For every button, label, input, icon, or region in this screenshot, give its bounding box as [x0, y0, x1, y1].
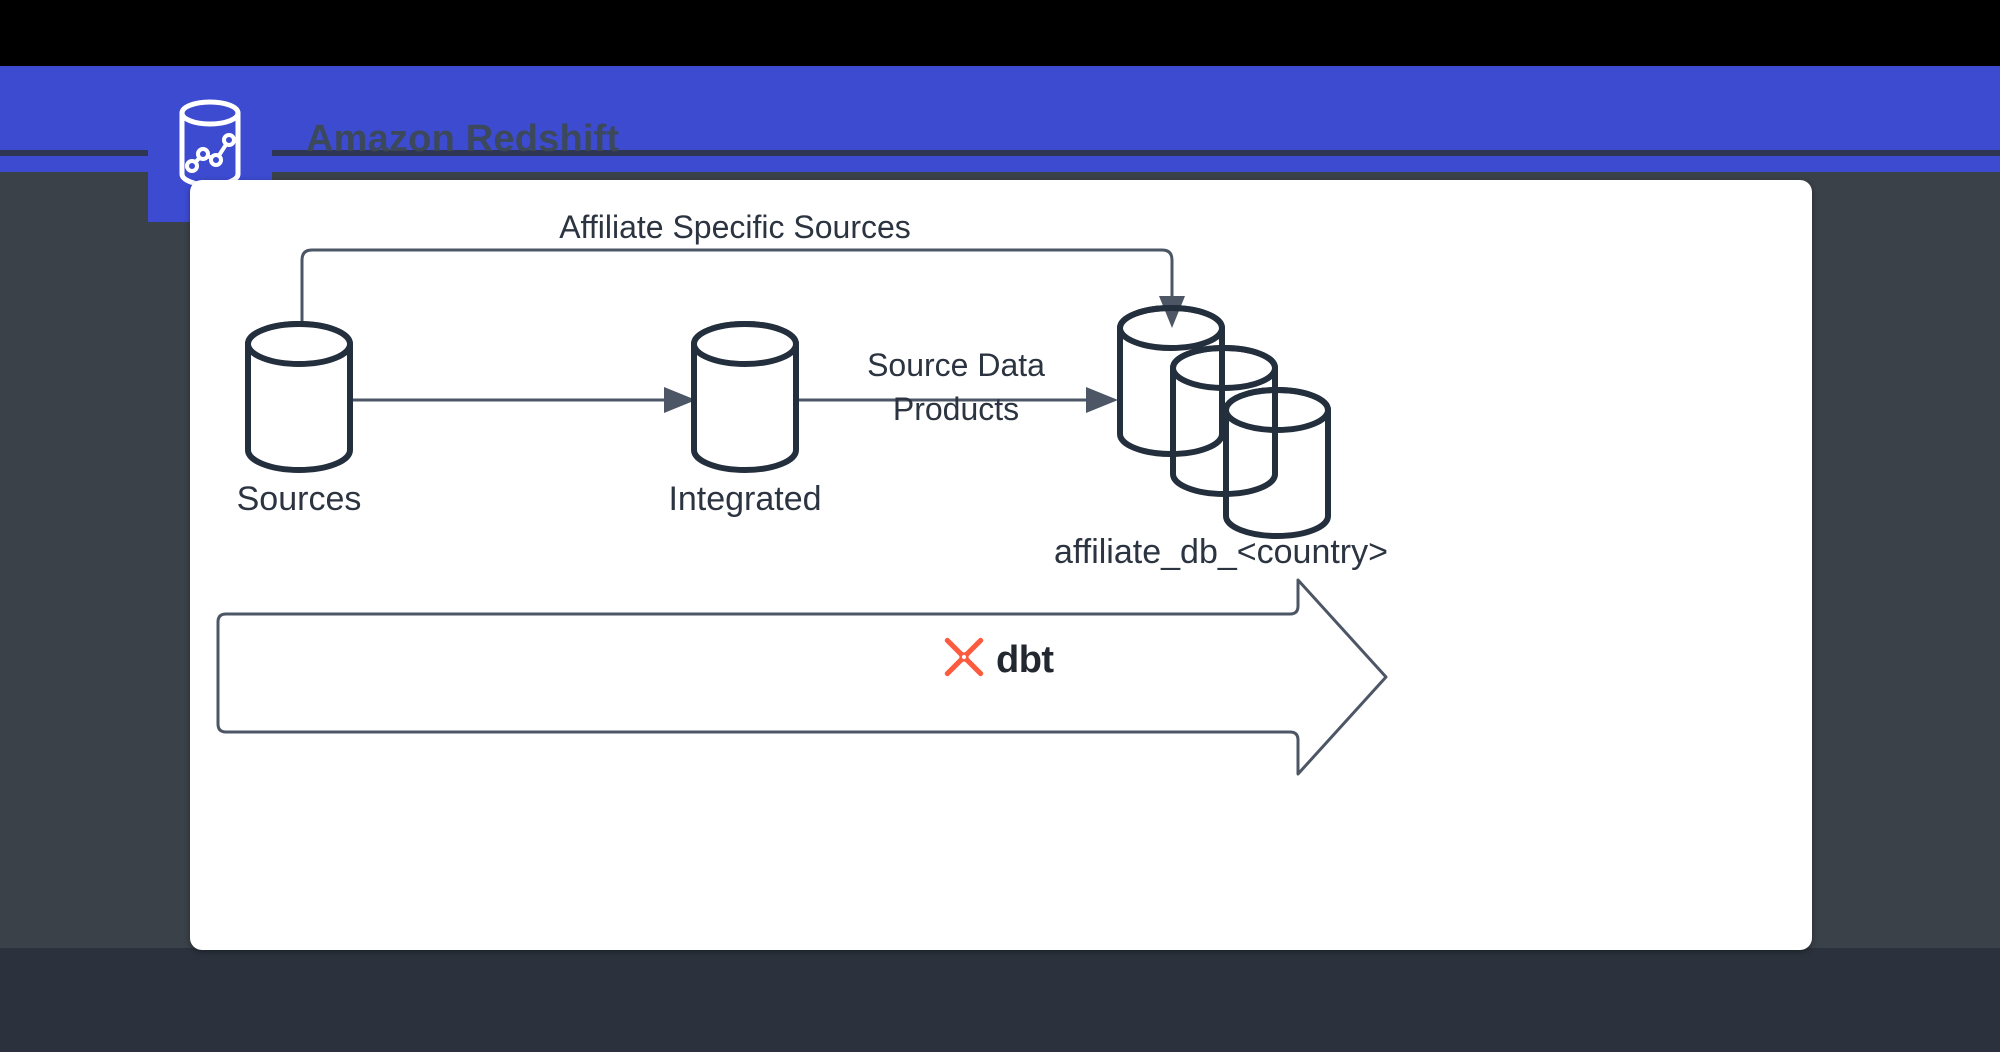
- header-band-accent: [0, 163, 2000, 172]
- edge-label-source-data-line1: Source Data: [867, 347, 1045, 383]
- dbt-process-arrow[interactable]: [218, 580, 1386, 774]
- node-sources[interactable]: [248, 324, 350, 470]
- app-background: Amazon Redshift Affiliate Specific Sourc…: [0, 0, 2000, 1052]
- node-label-affiliate-db: affiliate_db_<country>: [1054, 533, 1388, 571]
- node-integrated[interactable]: [694, 324, 796, 470]
- node-label-sources: Sources: [237, 480, 362, 518]
- header-band-divider: [0, 150, 2000, 156]
- edge-label-source-data-line2: Products: [893, 391, 1019, 427]
- top-black-bar: [0, 0, 2000, 66]
- dbt-logo: dbt: [942, 635, 1054, 684]
- page-title: Amazon Redshift: [306, 118, 619, 161]
- edge-label-affiliate-specific-sources: Affiliate Specific Sources: [559, 209, 911, 245]
- node-label-integrated: Integrated: [668, 480, 821, 518]
- architecture-diagram: Affiliate Specific Sources Source Data P…: [190, 180, 1812, 950]
- redshift-database-icon: [171, 96, 249, 192]
- bottom-dark-band: [0, 948, 2000, 1052]
- edge-sources-to-integrated: [350, 387, 696, 413]
- dbt-x-icon: [942, 635, 986, 684]
- node-affiliate-db-stack[interactable]: [1120, 308, 1328, 536]
- diagram-card: Affiliate Specific Sources Source Data P…: [190, 180, 1812, 950]
- dbt-wordmark: dbt: [996, 641, 1054, 679]
